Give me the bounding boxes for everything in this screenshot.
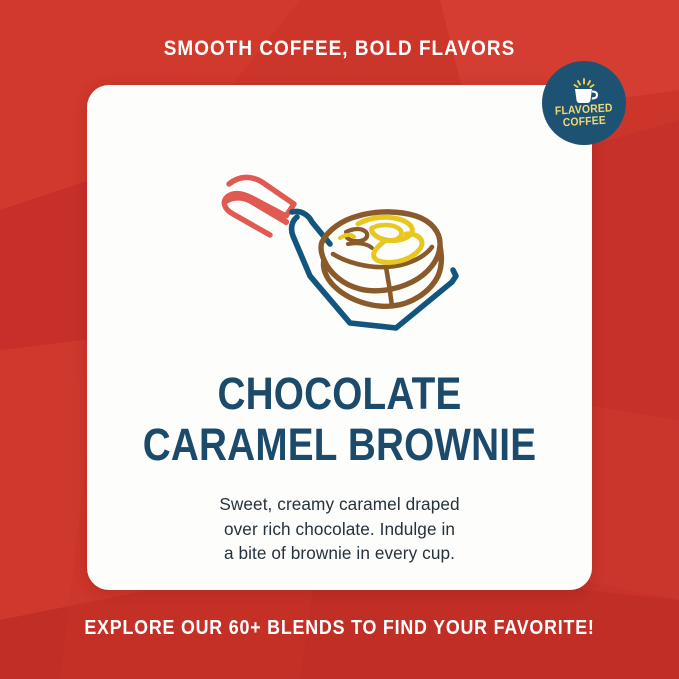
product-title-line1: CHOCOLATE: [122, 368, 556, 419]
top-banner-text: SMOOTH COFFEE, BOLD FLAVORS: [41, 36, 639, 61]
flavored-coffee-badge: FLAVORED COFFEE: [542, 61, 626, 145]
spatula-with-brownie-illustration: [200, 158, 484, 344]
product-description: Sweet, creamy caramel draped over rich c…: [87, 492, 592, 566]
bottom-banner-text: EXPLORE OUR 60+ BLENDS TO FIND YOUR FAVO…: [44, 616, 635, 640]
coffee-cup-icon: [567, 78, 601, 104]
badge-label-line2: COFFEE: [562, 114, 606, 128]
product-description-line1: Sweet, creamy caramel draped: [87, 492, 592, 517]
product-title-line2: CARAMEL BROWNIE: [122, 419, 556, 470]
product-title: CHOCOLATE CARAMEL BROWNIE: [122, 368, 556, 470]
product-description-line2: over rich chocolate. Indulge in: [87, 517, 592, 542]
badge-label: FLAVORED COFFEE: [555, 103, 614, 129]
product-description-line3: a bite of brownie in every cup.: [87, 541, 592, 566]
product-poster: SMOOTH COFFEE, BOLD FLAVORS: [0, 0, 679, 679]
